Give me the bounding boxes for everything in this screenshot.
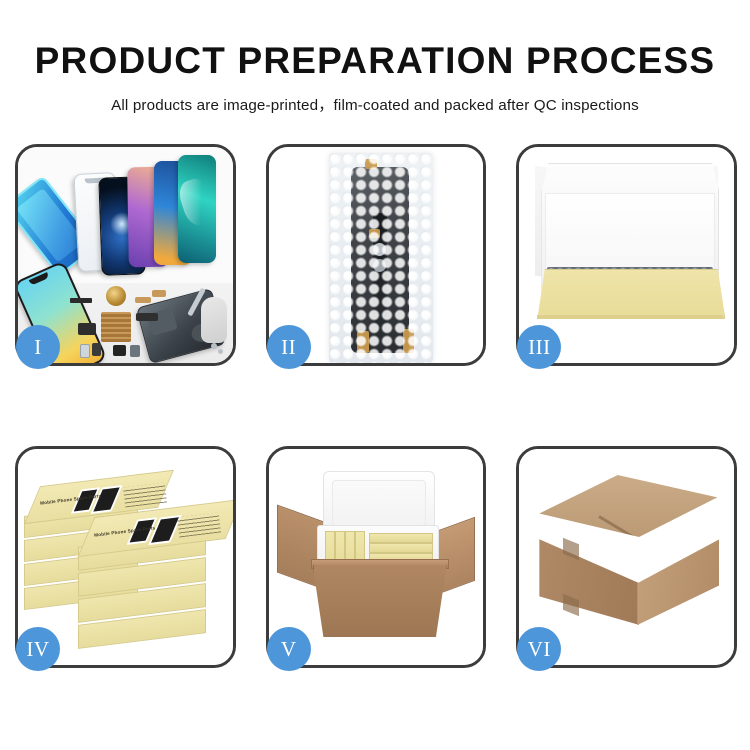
step-panel-4[interactable]: Mobile Phone Spare Parts Mobile Phone Sp… — [15, 446, 236, 668]
camera-module-icon — [113, 345, 126, 356]
bubble-wrap-bag — [329, 153, 433, 363]
camera-hole-icon — [373, 243, 386, 256]
step-badge-2: II — [267, 325, 311, 369]
screw-icon — [211, 343, 217, 349]
steps-row-1: I II — [15, 144, 737, 366]
sensor-hole-icon — [373, 259, 386, 272]
connector-tape-icon — [403, 329, 414, 353]
box-spec-lines — [123, 483, 167, 508]
page-title: PRODUCT PREPARATION PROCESS — [0, 0, 750, 79]
steps-grid: I II — [15, 144, 737, 668]
page-subtitle: All products are image-printed，film-coat… — [0, 79, 750, 115]
product-preparation-infographic: PRODUCT PREPARATION PROCESS All products… — [0, 0, 750, 750]
retail-box-inner — [369, 533, 433, 543]
step-badge-5: V — [267, 627, 311, 671]
retail-box-stack: Mobile Phone Spare Parts Mobile Phone Sp… — [20, 467, 233, 657]
speaker-module-icon — [106, 286, 126, 306]
box-tray-edge — [537, 315, 723, 319]
connector-icon — [152, 290, 166, 297]
steps-row-2: Mobile Phone Spare Parts Mobile Phone Sp… — [15, 446, 737, 668]
carton-body — [313, 565, 447, 637]
carton-top-face — [539, 475, 717, 537]
tweezers-icon — [201, 297, 227, 343]
step-panel-2[interactable]: II — [266, 144, 487, 366]
flex-cable-icon — [136, 313, 158, 321]
retail-box-inner — [369, 543, 433, 553]
connector-tape-icon — [365, 159, 377, 169]
connector-tape-icon — [357, 331, 369, 353]
step-badge-1: I — [16, 325, 60, 369]
earpiece-icon — [130, 345, 140, 357]
connector-icon — [135, 297, 151, 303]
connector-tape-icon — [369, 229, 380, 238]
step-badge-4: IV — [16, 627, 60, 671]
step-panel-1[interactable]: I — [15, 144, 236, 366]
step-panel-6[interactable]: VI — [516, 446, 737, 668]
flex-cable-icon — [78, 323, 96, 335]
header: PRODUCT PREPARATION PROCESS All products… — [0, 0, 750, 115]
sim-tray-icon — [80, 344, 90, 358]
screw-icon — [218, 349, 223, 354]
box-tray-base — [537, 269, 725, 319]
logic-board-icon — [101, 312, 131, 342]
button-part-icon — [92, 343, 101, 356]
antenna-bar-icon — [70, 298, 92, 303]
step-panel-5[interactable]: V — [266, 446, 487, 668]
step-panel-3[interactable]: III — [516, 144, 737, 366]
phone-screen-teal-icon — [178, 155, 216, 263]
